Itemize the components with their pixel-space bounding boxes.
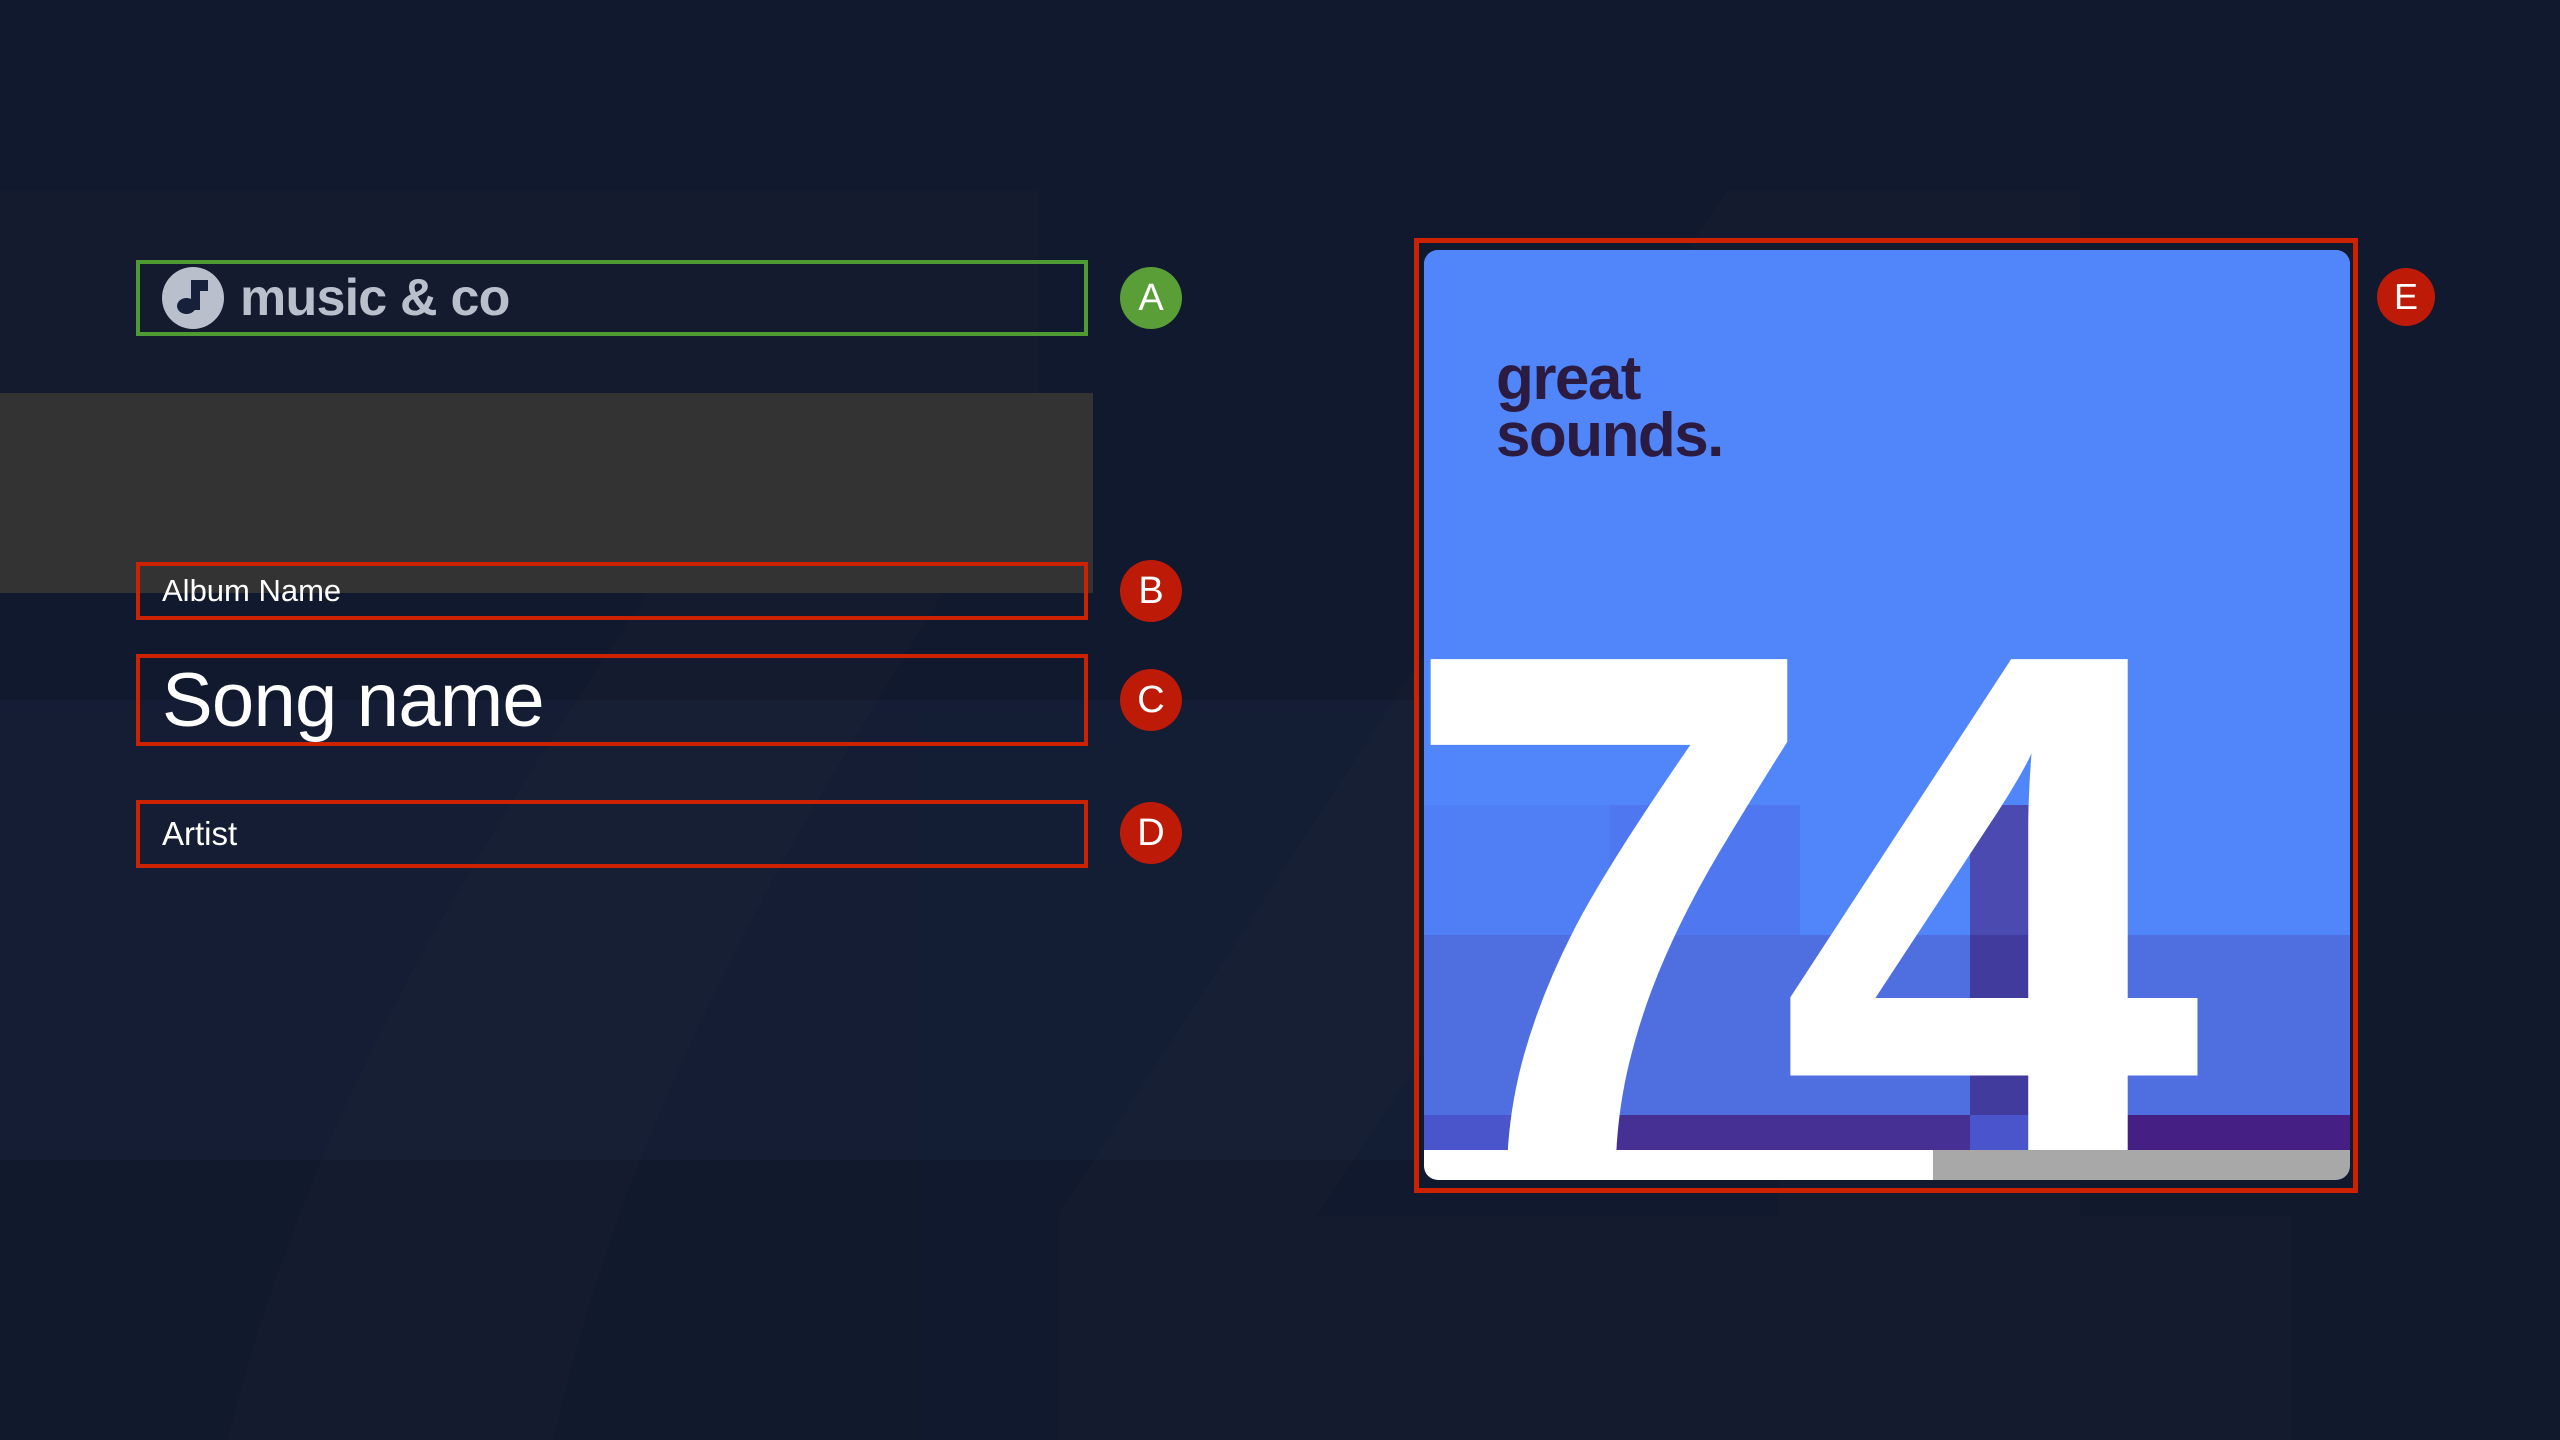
annotation-badge-e: E bbox=[2377, 268, 2435, 326]
annotation-badge-c: C bbox=[1120, 669, 1182, 731]
artist-label: Artist bbox=[162, 815, 237, 853]
song-name-label: Song name bbox=[162, 657, 544, 744]
album-name-field[interactable]: Album Name bbox=[136, 562, 1088, 620]
music-note-disc-icon bbox=[162, 267, 224, 329]
annotation-badge-b: B bbox=[1120, 560, 1182, 622]
album-name-label: Album Name bbox=[162, 573, 341, 609]
song-name-field[interactable]: Song name bbox=[136, 654, 1088, 746]
music-note-head-icon bbox=[177, 298, 196, 314]
album-art-highlight-box bbox=[1414, 238, 2358, 1193]
brand-name-label: music & co bbox=[240, 268, 510, 328]
left-column: music & co Album Name Song name Artist bbox=[0, 0, 1100, 1440]
brand-row[interactable]: music & co bbox=[136, 260, 1088, 336]
artist-field[interactable]: Artist bbox=[136, 800, 1088, 868]
annotation-badge-a: A bbox=[1120, 267, 1182, 329]
annotation-badge-d: D bbox=[1120, 802, 1182, 864]
